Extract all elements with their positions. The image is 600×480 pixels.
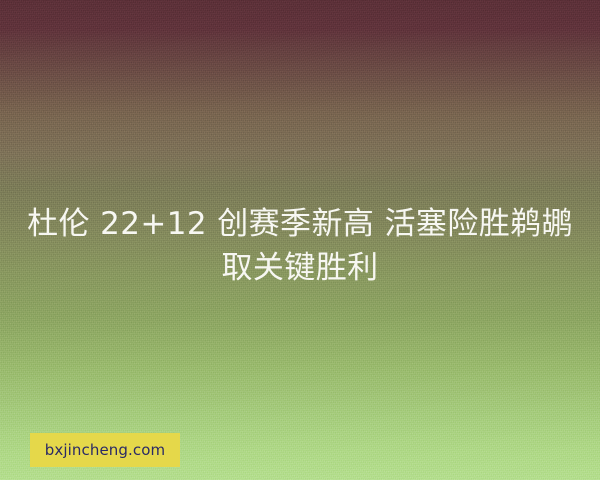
news-thumbnail-card: 杜伦 22+12 创赛季新高 活塞险胜鹈鹕取关键胜利 bxjincheng.co…: [0, 0, 600, 480]
watermark-badge: bxjincheng.com: [30, 433, 180, 467]
headline-text: 杜伦 22+12 创赛季新高 活塞险胜鹈鹕取关键胜利: [0, 202, 600, 290]
watermark-label: bxjincheng.com: [45, 443, 165, 458]
